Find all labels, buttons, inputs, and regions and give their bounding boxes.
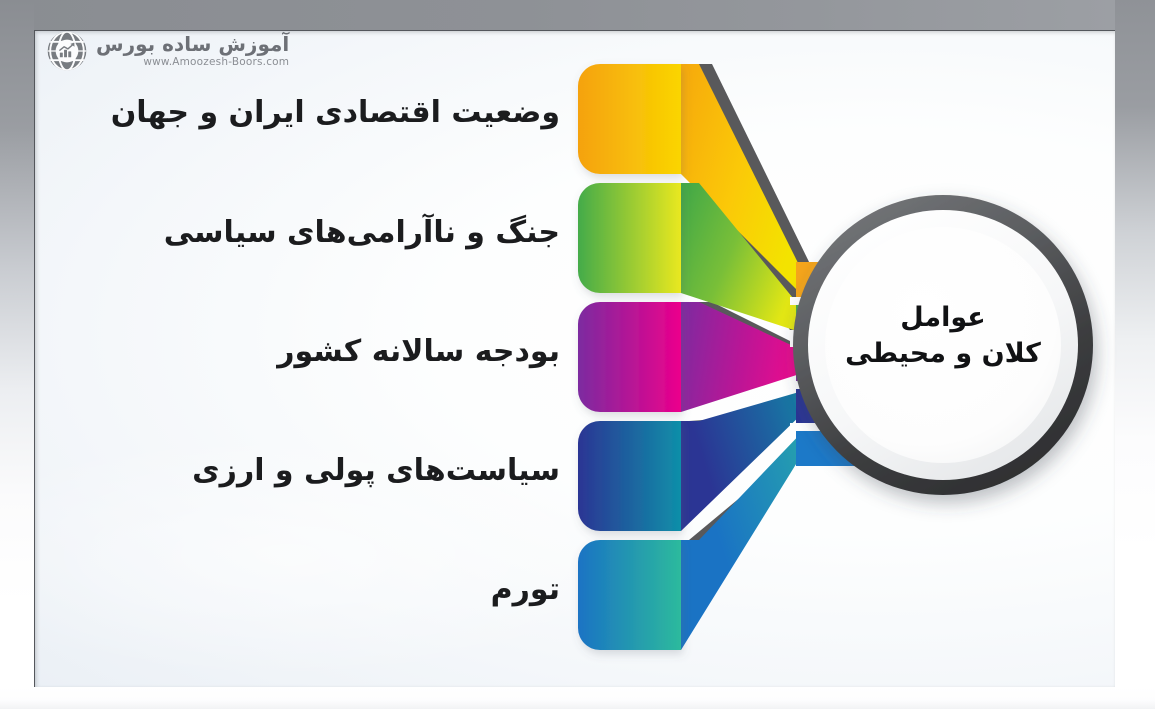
center-hub-label-line2: کلان و محیطی — [838, 336, 1048, 372]
brand-url: www.Amoozesh-Boors.com — [143, 57, 289, 68]
globe-chart-icon — [46, 30, 88, 72]
brand-logo[interactable]: آموزش ساده بورس www.Amoozesh-Boors.com — [46, 30, 289, 72]
funnel-item-label-4: سیاست‌های پولی و ارزی — [192, 453, 560, 488]
frame-edge-top — [0, 0, 1155, 30]
frame-edge-left — [0, 0, 34, 709]
brand-text-block: آموزش ساده بورس www.Amoozesh-Boors.com — [96, 34, 289, 68]
funnel-item-label-5: تورم — [491, 572, 560, 607]
funnel-item-label-1: وضعیت اقتصادی ایران و جهان — [111, 95, 560, 130]
frame-edge-bottom — [0, 687, 1155, 709]
funnel-item-label-3: بودجه سالانه کشور — [277, 334, 560, 369]
center-hub-label: عوامل کلان و محیطی — [838, 300, 1048, 372]
center-hub-label-line1: عوامل — [838, 300, 1048, 336]
brand-name: آموزش ساده بورس — [96, 34, 289, 54]
frame-edge-right — [1115, 0, 1155, 709]
funnel-item-label-2: جنگ و ناآرامی‌های سیاسی — [164, 215, 560, 250]
